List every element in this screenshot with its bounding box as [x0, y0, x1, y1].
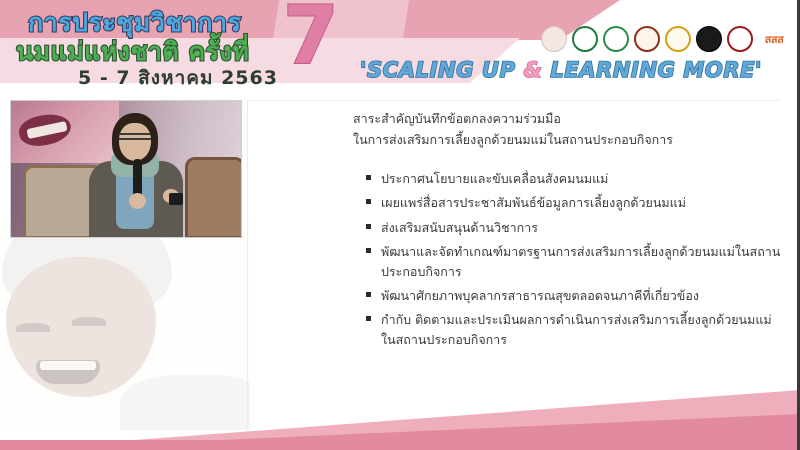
stage-armchair-right — [185, 157, 242, 238]
speaker-face-shape — [119, 123, 151, 161]
presentation-slide: การประชุมวิชาการ นมแม่แห่งชาติ ครั้งที่ … — [0, 0, 800, 450]
conference-edition-number: 7 — [283, 0, 339, 76]
logo-ministry-labour-icon — [727, 26, 753, 52]
tagline-ampersand: & — [524, 58, 543, 82]
list-item: พัฒนาและจัดทำเกณฑ์มาตรฐานการส่งเสริมการเ… — [366, 242, 781, 281]
sponsor-logo-strip: สสส — [541, 26, 790, 52]
child-teeth-shape — [40, 361, 96, 370]
slide-body: สาระสำคัญบันทึกข้อตกลงความร่วมมือ ในการส… — [0, 95, 800, 450]
logo-department-health-icon — [603, 26, 629, 52]
tagline-part-after: LEARNING MORE' — [542, 58, 762, 82]
mou-key-points-list: ประกาศนโยบายและขับเคลื่อนสังคมนมแม่ เผยแ… — [366, 169, 781, 354]
logo-royal-thai-government-icon — [665, 26, 691, 52]
tagline-part-before: 'SCALING UP — [360, 58, 524, 82]
child-left-eye-shape — [16, 323, 50, 332]
logo-unicef-icon — [696, 26, 722, 52]
speaker-hand-holding-mic — [129, 193, 146, 209]
slide-header-banner: การประชุมวิชาการ นมแม่แห่งชาติ ครั้งที่ … — [0, 0, 800, 95]
intro-line-1: สาระสำคัญบันทึกข้อตกลงความร่วมมือ — [353, 109, 773, 130]
list-item: ประกาศนโยบายและขับเคลื่อนสังคมนมแม่ — [366, 169, 781, 188]
bottom-band-base-strip — [0, 440, 800, 450]
list-item: เผยแพร่สื่อสารประชาสัมพันธ์ข้อมูลการเลี้… — [366, 193, 781, 212]
logo-thai-breastfeeding-centre-icon — [634, 26, 660, 52]
list-item: ส่งเสริมสนับสนุนด้านวิชาการ — [366, 218, 781, 237]
slide-content-panel: สาระสำคัญบันทึกข้อตกลงความร่วมมือ ในการส… — [247, 100, 780, 430]
list-item: กำกับ ติดตามและประเมินผลการดำเนินการส่งเ… — [366, 310, 781, 349]
logo-thaihealth-sss-icon: สสส — [758, 26, 790, 52]
logo-royal-patronage-icon — [541, 26, 567, 52]
slide-intro-text: สาระสำคัญบันทึกข้อตกลงความร่วมมือ ในการส… — [353, 109, 773, 150]
logo-ministry-public-health-icon — [572, 26, 598, 52]
presentation-clicker-shape — [169, 193, 183, 205]
speaker-video-thumbnail[interactable] — [10, 100, 242, 238]
list-item: พัฒนาศักยภาพบุคลากรสาธารณสุขตลอดจนภาคีที… — [366, 286, 781, 305]
conference-date: 5 - 7 สิงหาคม 2563 — [78, 63, 278, 93]
conference-tagline: 'SCALING UP & LEARNING MORE' — [360, 58, 762, 82]
slide-bottom-pink-band — [0, 390, 800, 450]
stage-poster-graphic — [11, 101, 119, 163]
child-right-eye-shape — [72, 317, 106, 326]
speaker-glasses-shape — [119, 133, 151, 140]
intro-line-2: ในการส่งเสริมการเลี้ยงลูกด้วยนมแม่ในสถาน… — [353, 130, 773, 151]
